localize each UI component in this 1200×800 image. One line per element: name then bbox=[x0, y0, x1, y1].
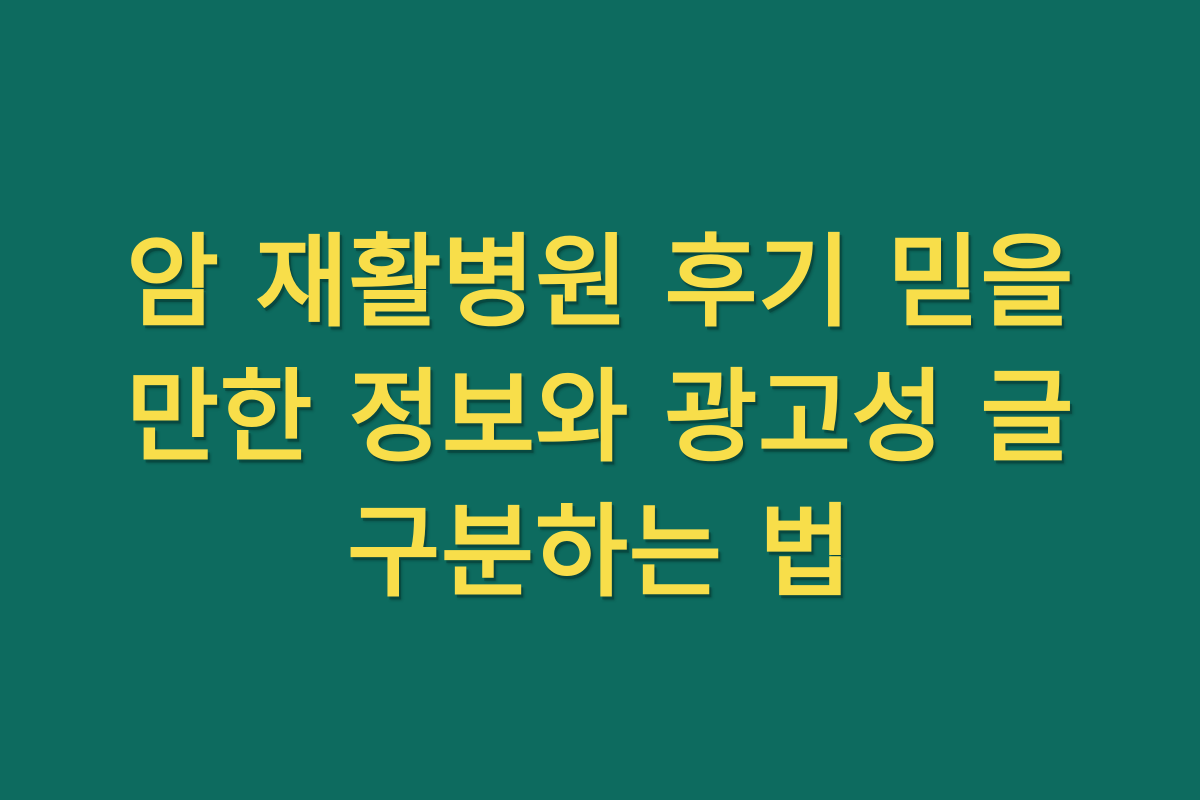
title-line-3: 구분하는 법 bbox=[65, 485, 1135, 620]
page-title: 암 재활병원 후기 믿을 만한 정보와 광고성 글 구분하는 법 bbox=[65, 215, 1135, 620]
title-line-1: 암 재활병원 후기 믿을 bbox=[65, 215, 1135, 350]
title-line-2: 만한 정보와 광고성 글 bbox=[65, 350, 1135, 485]
thumbnail-card: 암 재활병원 후기 믿을 만한 정보와 광고성 글 구분하는 법 bbox=[0, 0, 1200, 800]
